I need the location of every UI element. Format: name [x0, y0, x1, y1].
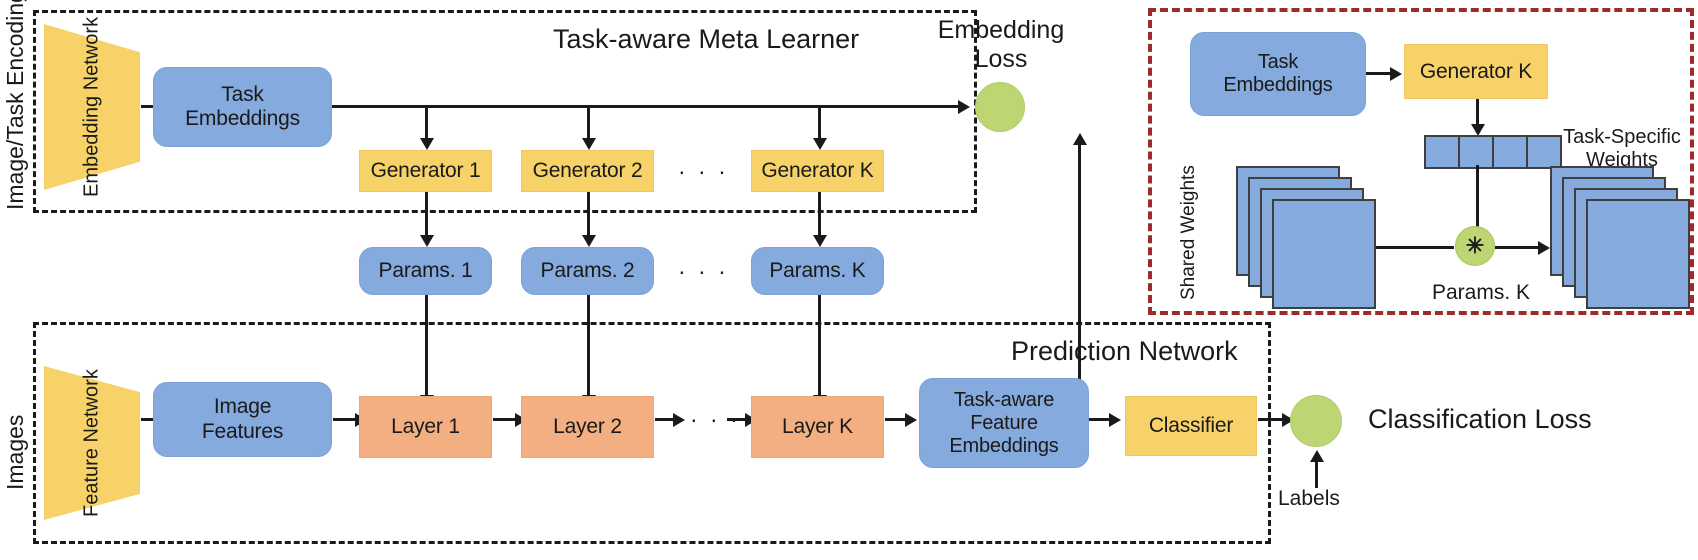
arrow-layer1-to-layer2-line — [493, 418, 517, 421]
bus-drop-gen1-head — [420, 138, 434, 150]
layer-2-label: Layer 2 — [553, 415, 622, 439]
params-k-label: Params. K — [769, 259, 865, 283]
generator-k-block: Generator K — [751, 150, 884, 192]
params-k-card — [1586, 199, 1690, 309]
prediction-network-title: Prediction Network — [1011, 336, 1238, 367]
arrow-gen1-to-params1-line — [425, 192, 428, 237]
task-embeddings-label: Task Embeddings — [185, 83, 300, 131]
arrow-layerk-to-featemb-line — [885, 418, 907, 421]
generator-k-label: Generator K — [761, 159, 873, 183]
meta-learner-title: Task-aware Meta Learner — [553, 24, 859, 55]
inset-generator-k-block: Generator K — [1404, 44, 1548, 99]
layer-2-block: Layer 2 — [521, 396, 654, 458]
bus-drop-gen2-line — [587, 106, 590, 140]
inset-star-to-params-line — [1495, 246, 1543, 249]
arrow-genk-to-paramsk-head — [813, 235, 827, 247]
classifier-label: Classifier — [1149, 414, 1233, 438]
generator-2-label: Generator 2 — [533, 159, 643, 183]
image-features-label: Image Features — [202, 395, 283, 443]
task-embeddings-bus-head — [958, 100, 970, 114]
params-2-block: Params. 2 — [521, 247, 654, 295]
side-label-encodings: Image/Task Encodings — [2, 14, 29, 210]
embedding-loss-node — [975, 82, 1025, 132]
arrow-layer2-to-dots-head — [673, 413, 685, 427]
layer-1-block: Layer 1 — [359, 396, 492, 458]
layer-1-label: Layer 1 — [391, 415, 460, 439]
generator-1-block: Generator 1 — [359, 150, 492, 192]
bus-drop-genk-head — [813, 138, 827, 150]
inset-generator-k-label: Generator K — [1420, 60, 1532, 84]
arrow-genk-to-paramsk-line — [818, 192, 821, 237]
feature-network-label: Feature Network — [44, 366, 140, 520]
task-aware-feature-embeddings-block: Task-aware Feature Embeddings — [919, 378, 1089, 468]
image-features-block: Image Features — [153, 382, 332, 457]
inset-arrow-taskemb-to-gen-head — [1390, 67, 1402, 81]
inset-arrow-gen-to-weights-line — [1476, 99, 1479, 126]
params-ellipsis: · · · — [678, 258, 729, 285]
inset-task-embeddings-block: Task Embeddings — [1190, 32, 1366, 116]
inset-weights-to-star-line — [1476, 165, 1479, 230]
classifier-block: Classifier — [1125, 396, 1257, 456]
inset-shared-to-star-line — [1376, 246, 1454, 249]
elementwise-multiply-glyph: ✳ — [1466, 233, 1484, 259]
layer-k-block: Layer K — [751, 396, 884, 458]
arrow-featemb-to-classifier-line — [1089, 418, 1111, 421]
layer-k-label: Layer K — [782, 415, 853, 439]
task-aware-feature-embeddings-label: Task-aware Feature Embeddings — [949, 389, 1058, 458]
side-label-images: Images — [2, 378, 29, 490]
params-k-block: Params. K — [751, 247, 884, 295]
arrow-classifier-to-classloss-line — [1258, 418, 1284, 421]
inset-task-embeddings-label: Task Embeddings — [1223, 51, 1332, 97]
arrow-featemb-to-classifier-head — [1109, 413, 1121, 427]
weight-cell — [1458, 135, 1494, 169]
arrow-gen1-to-params1-head — [420, 235, 434, 247]
arrow-layer2-to-dots-line — [655, 418, 675, 421]
bus-drop-gen1-line — [425, 106, 428, 140]
classification-loss-node — [1290, 395, 1342, 447]
classification-loss-label: Classification Loss — [1368, 404, 1592, 435]
arrow-gen2-to-params2-head — [582, 235, 596, 247]
weight-cell — [1424, 135, 1460, 169]
generators-ellipsis: · · · — [678, 158, 729, 185]
arrow-gen2-to-params2-line — [587, 192, 590, 237]
inset-shared-weights-label: Shared Weights — [1178, 178, 1200, 288]
labels-text: Labels — [1278, 487, 1340, 511]
arrow-dots-to-layerk-line — [727, 418, 747, 421]
arrow-labels-to-classloss-head — [1310, 450, 1324, 462]
inset-task-specific-weights-cells — [1424, 135, 1562, 169]
arrow-labels-to-classloss-line — [1315, 462, 1318, 488]
embedding-network-label: Embedding Network — [44, 24, 140, 190]
task-embeddings-block: Task Embeddings — [153, 67, 332, 147]
elementwise-multiply-icon: ✳ — [1455, 226, 1495, 266]
arrow-imgfeat-to-layer1-line — [333, 418, 357, 421]
inset-params-k-text: Params. K — [1432, 281, 1530, 304]
generator-2-block: Generator 2 — [521, 150, 654, 192]
params-2-label: Params. 2 — [541, 259, 635, 283]
diagram-canvas: Image/Task Encodings Task-aware Meta Lea… — [0, 0, 1698, 560]
bus-drop-gen2-head — [582, 138, 596, 150]
embedding-loss-label: Embedding Loss — [925, 16, 1077, 74]
generator-1-label: Generator 1 — [371, 159, 481, 183]
inset-star-to-params-head — [1538, 241, 1550, 255]
arrow-featemb-to-embloss-head — [1073, 133, 1087, 145]
inset-arrow-taskemb-to-gen-line — [1366, 72, 1392, 75]
params-1-block: Params. 1 — [359, 247, 492, 295]
inset-params-k-label: Params. K — [1432, 281, 1530, 305]
shared-weights-card — [1272, 199, 1376, 309]
params-1-label: Params. 1 — [379, 259, 473, 283]
bus-drop-genk-line — [818, 106, 821, 140]
weight-cell — [1492, 135, 1528, 169]
arrow-layerk-to-featemb-head — [905, 413, 917, 427]
